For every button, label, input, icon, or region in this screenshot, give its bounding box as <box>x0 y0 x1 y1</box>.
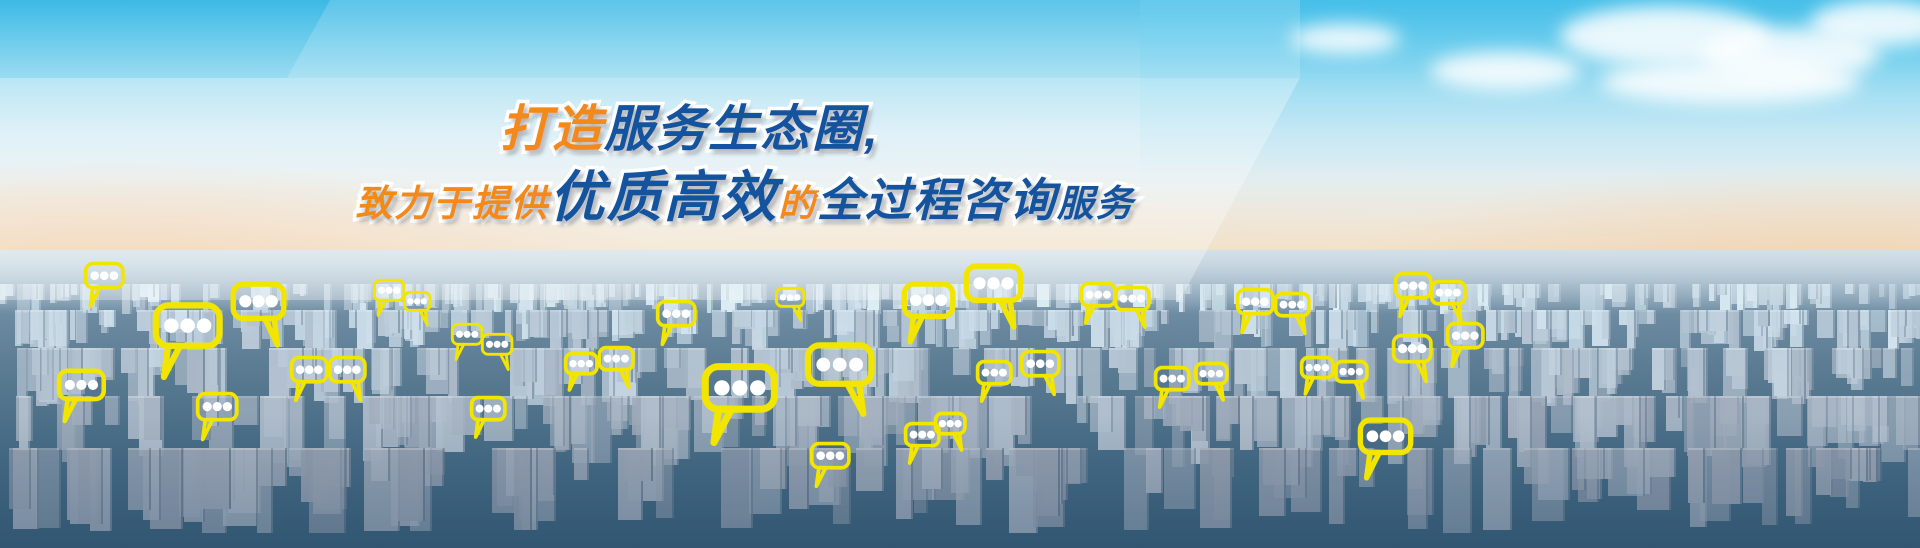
building <box>1823 284 1832 296</box>
building <box>1795 448 1812 524</box>
building <box>1654 284 1669 302</box>
building <box>1762 448 1778 525</box>
building <box>1598 348 1617 388</box>
building <box>635 284 641 297</box>
building <box>416 284 423 305</box>
building <box>521 348 537 382</box>
building <box>1303 284 1316 312</box>
building <box>1419 284 1429 305</box>
building <box>1883 348 1898 378</box>
building <box>1849 310 1860 349</box>
building <box>668 284 675 297</box>
building <box>912 284 928 294</box>
building <box>664 348 681 368</box>
building <box>1259 448 1285 516</box>
building <box>1280 348 1298 398</box>
building <box>187 348 205 393</box>
building <box>442 284 451 313</box>
building <box>752 284 763 298</box>
building <box>798 396 822 426</box>
building <box>1146 284 1154 304</box>
building <box>1145 310 1159 331</box>
building <box>128 348 149 401</box>
building <box>1180 396 1204 431</box>
building <box>611 396 630 429</box>
building <box>1743 448 1764 503</box>
building <box>646 284 656 305</box>
building <box>1257 396 1279 447</box>
building <box>104 348 114 380</box>
building <box>1688 448 1705 503</box>
building <box>550 396 566 446</box>
building <box>752 310 768 349</box>
promo-banner: 打造服务生态圈, 致力于提供优质高效的全过程咨询服务 <box>0 0 1920 548</box>
building <box>783 284 798 297</box>
building <box>332 348 343 368</box>
building <box>626 284 634 299</box>
building <box>1564 348 1580 393</box>
building <box>2 284 15 296</box>
building <box>1808 284 1818 299</box>
building <box>1412 348 1422 395</box>
building <box>1593 284 1605 311</box>
headline-line-1-segment-1: 服务生态圈, <box>604 104 880 154</box>
building <box>343 348 355 392</box>
building <box>1861 310 1871 348</box>
building <box>1443 448 1472 533</box>
building <box>1666 396 1679 418</box>
building <box>1462 310 1478 347</box>
building <box>946 284 960 307</box>
building <box>357 310 374 349</box>
building <box>452 396 482 435</box>
building <box>752 396 766 436</box>
building <box>585 284 595 295</box>
building <box>770 348 781 387</box>
building <box>451 310 469 335</box>
building <box>362 284 373 302</box>
building <box>381 284 391 297</box>
building <box>287 348 303 388</box>
building <box>1388 396 1404 464</box>
building <box>794 348 812 381</box>
building <box>624 448 653 481</box>
building <box>1729 310 1741 351</box>
building <box>1717 284 1727 295</box>
building <box>1161 310 1169 324</box>
building <box>462 284 471 313</box>
building <box>591 396 612 463</box>
building <box>188 310 201 327</box>
building <box>937 396 954 418</box>
building <box>1265 310 1272 346</box>
building <box>1344 284 1353 302</box>
building <box>449 348 459 402</box>
building <box>712 310 727 337</box>
building <box>1046 348 1065 393</box>
building <box>1577 448 1605 479</box>
building <box>1388 284 1404 309</box>
building <box>1744 284 1758 308</box>
building <box>1710 310 1728 331</box>
building <box>203 284 210 313</box>
building <box>1317 348 1328 401</box>
building <box>857 310 867 345</box>
building <box>397 396 412 437</box>
building <box>969 310 989 331</box>
building <box>936 310 944 347</box>
building <box>26 348 42 391</box>
building <box>1427 310 1438 331</box>
building <box>260 284 272 303</box>
building <box>1618 348 1631 375</box>
building <box>625 310 644 332</box>
building <box>1837 310 1849 350</box>
building <box>882 284 891 299</box>
building <box>1214 310 1233 351</box>
building <box>309 448 346 533</box>
building <box>476 284 484 312</box>
building <box>1423 396 1442 425</box>
building <box>57 310 69 349</box>
building <box>1029 310 1047 326</box>
building <box>516 310 528 324</box>
building <box>1836 348 1854 378</box>
building <box>729 284 745 303</box>
building <box>550 310 563 350</box>
building <box>1551 396 1573 433</box>
building <box>17 348 28 397</box>
building <box>144 396 162 440</box>
building <box>293 284 308 294</box>
cloud-5 <box>1290 24 1400 54</box>
building <box>896 396 916 445</box>
headline-line-1-segment-0: 打造 <box>500 104 604 154</box>
building <box>427 448 445 475</box>
building <box>1784 310 1801 324</box>
building <box>1251 348 1268 399</box>
building <box>104 310 116 327</box>
building <box>209 348 219 385</box>
building <box>1408 448 1428 529</box>
building <box>922 448 943 489</box>
building <box>914 348 930 398</box>
building <box>894 284 910 305</box>
building <box>41 348 61 401</box>
building <box>1724 396 1743 450</box>
building <box>426 284 437 307</box>
building <box>1441 348 1460 368</box>
building <box>1359 448 1376 487</box>
building <box>793 310 806 328</box>
building <box>206 396 219 426</box>
building <box>1903 396 1920 450</box>
building <box>140 284 156 297</box>
building <box>617 348 633 382</box>
building <box>1737 284 1745 310</box>
building <box>1901 348 1914 386</box>
building <box>1569 310 1585 348</box>
building <box>564 284 580 309</box>
building <box>234 396 259 425</box>
building <box>1073 310 1084 326</box>
building <box>210 284 221 298</box>
building <box>598 284 606 303</box>
building <box>1133 284 1147 307</box>
building <box>247 310 263 326</box>
building <box>160 348 172 371</box>
building <box>883 310 899 326</box>
building <box>417 348 440 375</box>
building <box>1758 310 1770 326</box>
building <box>1712 448 1742 504</box>
building <box>1306 348 1316 379</box>
building <box>1483 448 1512 530</box>
building <box>861 396 884 445</box>
building <box>1057 310 1071 342</box>
building <box>571 348 591 372</box>
building <box>406 310 421 330</box>
building <box>354 348 366 403</box>
building <box>1790 284 1799 308</box>
building <box>1475 396 1491 445</box>
building <box>1237 284 1245 309</box>
building <box>677 310 689 325</box>
building <box>832 284 848 310</box>
building <box>1478 284 1484 302</box>
building <box>1164 448 1196 509</box>
building <box>57 396 85 450</box>
building <box>1664 348 1674 380</box>
building <box>1240 396 1254 450</box>
headline-line-2-segment-3: 全过程咨询 <box>817 177 1057 223</box>
building <box>171 284 181 308</box>
building <box>529 284 537 300</box>
building <box>669 396 691 430</box>
building <box>1554 284 1561 297</box>
building <box>1208 348 1231 391</box>
building <box>1770 284 1784 305</box>
building <box>349 310 357 328</box>
building <box>855 284 868 308</box>
building <box>848 348 868 371</box>
building <box>329 396 347 439</box>
building <box>1443 284 1458 299</box>
building <box>175 310 189 329</box>
headline-line-2-segment-4: 服务 <box>1057 186 1135 223</box>
building <box>1816 448 1852 479</box>
building <box>896 448 913 519</box>
building <box>731 348 743 395</box>
building <box>1020 284 1036 297</box>
building <box>1916 310 1920 339</box>
building <box>16 396 34 441</box>
building <box>1859 284 1870 304</box>
building <box>1245 284 1260 305</box>
building <box>724 396 744 419</box>
building <box>371 448 391 481</box>
building <box>1908 448 1920 517</box>
building <box>1909 284 1918 296</box>
building <box>1768 310 1782 337</box>
building <box>1388 348 1410 401</box>
building <box>901 310 919 347</box>
building <box>1361 396 1384 424</box>
building <box>1285 284 1294 300</box>
building <box>1077 396 1088 423</box>
building <box>721 448 753 528</box>
building <box>1688 348 1706 397</box>
building <box>1807 396 1828 446</box>
building <box>1879 284 1886 297</box>
building <box>1647 310 1655 324</box>
building <box>1307 396 1323 451</box>
building <box>1011 396 1027 435</box>
building <box>956 448 982 525</box>
building <box>986 448 1004 480</box>
building <box>999 284 1013 301</box>
building <box>1777 396 1803 436</box>
building <box>1538 448 1570 500</box>
building <box>1037 284 1052 307</box>
building <box>1537 310 1547 329</box>
building <box>532 310 550 337</box>
building <box>734 310 754 327</box>
building <box>991 310 1000 329</box>
building <box>1056 284 1072 308</box>
building <box>987 284 994 313</box>
building <box>202 310 217 349</box>
building <box>283 310 303 325</box>
building <box>749 448 783 514</box>
building <box>1640 284 1647 305</box>
building <box>602 348 615 402</box>
building <box>1612 284 1628 302</box>
building <box>789 448 809 509</box>
building <box>484 396 514 441</box>
building <box>1282 396 1308 454</box>
building <box>1329 284 1337 308</box>
building <box>1486 310 1498 341</box>
building <box>84 284 97 307</box>
building <box>609 284 617 297</box>
building <box>128 448 151 510</box>
headline-line-2-segment-2: 的 <box>778 186 817 223</box>
building <box>257 448 273 533</box>
building <box>573 310 589 339</box>
headline-line-1: 打造服务生态圈, <box>0 104 1340 154</box>
building <box>1409 284 1418 295</box>
building <box>678 284 693 313</box>
building <box>1212 284 1227 310</box>
building <box>837 310 856 347</box>
building <box>280 284 288 306</box>
building <box>1217 396 1240 424</box>
building <box>1176 284 1184 302</box>
headline-block: 打造服务生态圈, 致力于提供优质高效的全过程咨询服务 <box>0 104 1340 225</box>
building <box>313 310 331 351</box>
building <box>1557 310 1568 340</box>
building <box>30 310 45 347</box>
building <box>1144 348 1157 387</box>
building <box>1608 448 1644 496</box>
building <box>353 284 359 312</box>
building <box>1329 310 1342 339</box>
building <box>1156 284 1165 311</box>
building <box>1772 348 1790 399</box>
headline-line-2-segment-1: 优质高效 <box>549 170 778 225</box>
building <box>833 448 852 524</box>
building <box>1261 284 1272 308</box>
building <box>656 448 674 518</box>
building <box>372 348 391 394</box>
building <box>262 310 273 339</box>
building <box>1356 348 1377 402</box>
building <box>1514 284 1525 298</box>
building <box>1403 310 1420 342</box>
building <box>1692 284 1700 298</box>
building <box>953 348 971 375</box>
building <box>395 284 403 302</box>
building <box>1324 396 1345 437</box>
headline-line-2-segment-0: 致力于提供 <box>355 186 549 223</box>
building <box>686 348 706 388</box>
building <box>641 396 662 452</box>
building <box>505 310 513 342</box>
building <box>484 310 494 335</box>
building <box>1845 284 1854 294</box>
building <box>1090 396 1113 432</box>
building <box>574 448 589 479</box>
building <box>160 284 169 300</box>
building <box>1682 310 1699 333</box>
building <box>515 396 528 429</box>
building <box>1899 310 1907 326</box>
building <box>995 348 1011 384</box>
building <box>1549 348 1562 375</box>
building <box>1316 310 1326 344</box>
building <box>821 348 843 379</box>
building <box>638 348 657 372</box>
building <box>398 448 424 521</box>
building <box>9 448 31 509</box>
building <box>1871 310 1888 332</box>
building <box>1037 448 1060 516</box>
building <box>194 448 231 509</box>
building <box>76 310 88 343</box>
building <box>1504 310 1518 333</box>
building <box>1122 310 1141 348</box>
cloud-2 <box>1430 52 1580 90</box>
building <box>23 284 38 299</box>
building <box>1489 348 1506 392</box>
building <box>1602 310 1611 339</box>
building <box>488 284 500 298</box>
building <box>1091 310 1106 347</box>
building <box>1627 310 1636 349</box>
building <box>1723 348 1747 403</box>
building <box>514 448 533 530</box>
building <box>707 284 714 313</box>
building <box>389 310 400 333</box>
headline-line-2: 致力于提供优质高效的全过程咨询服务 <box>0 170 1340 225</box>
building <box>1118 348 1137 373</box>
building <box>1083 348 1102 403</box>
building <box>946 310 957 328</box>
building <box>1305 310 1313 347</box>
building <box>1366 284 1378 312</box>
building <box>1643 448 1676 477</box>
